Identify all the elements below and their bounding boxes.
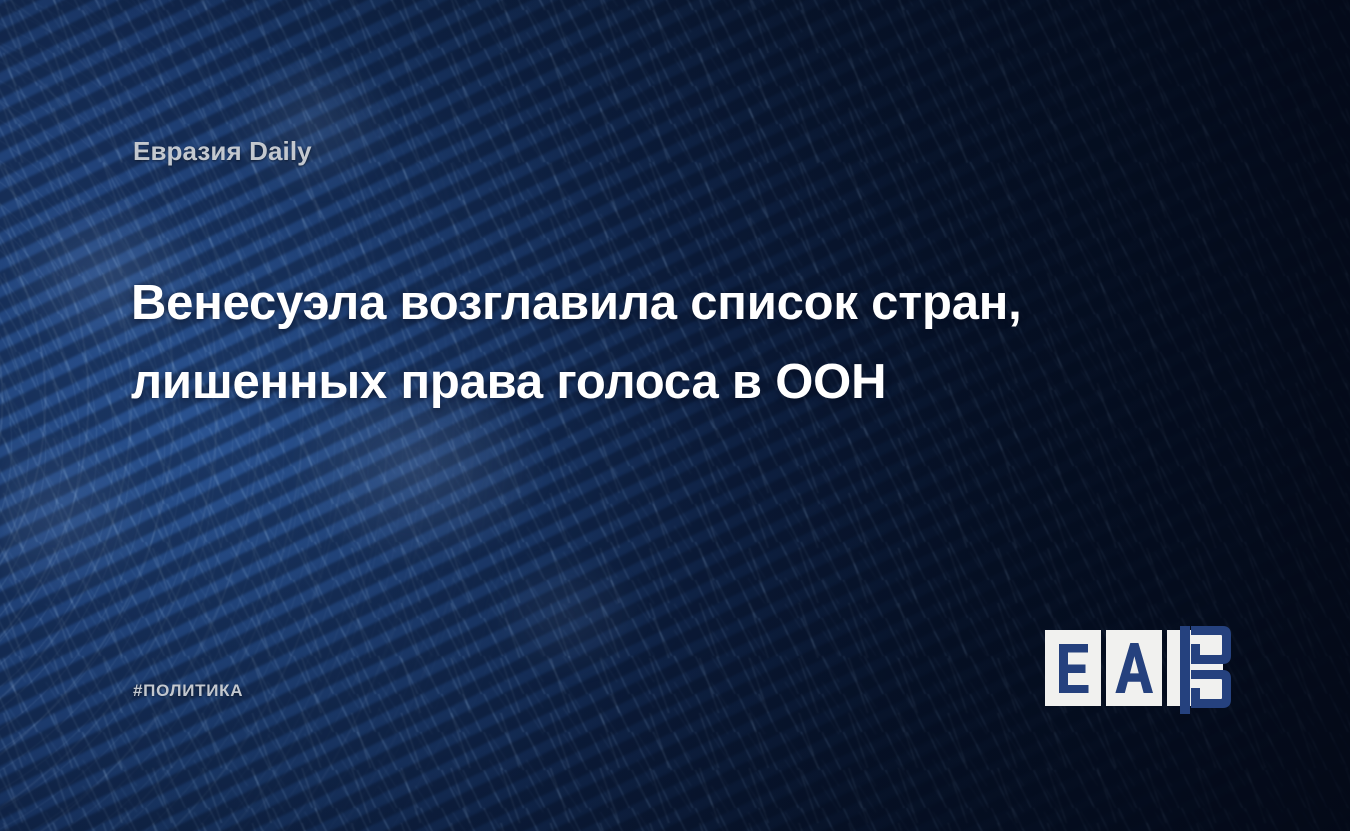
headline-title: Венесуэла возглавила список стран, лишен… (131, 264, 1141, 423)
eadaily-logo (1045, 630, 1225, 710)
logo-letter-d-icon (1167, 622, 1237, 718)
brand-wordmark: Евразия Daily (133, 136, 312, 167)
news-card: Евразия Daily Венесуэла возглавила списо… (0, 0, 1350, 831)
logo-tile-a (1106, 630, 1162, 706)
logo-tile-d (1167, 630, 1223, 706)
category-tag: #ПОЛИТИКА (133, 681, 243, 701)
logo-letter-e-icon (1045, 630, 1101, 706)
logo-letter-a-icon (1106, 630, 1162, 706)
card-content: Евразия Daily Венесуэла возглавила списо… (0, 0, 1350, 831)
logo-tile-e (1045, 630, 1101, 706)
